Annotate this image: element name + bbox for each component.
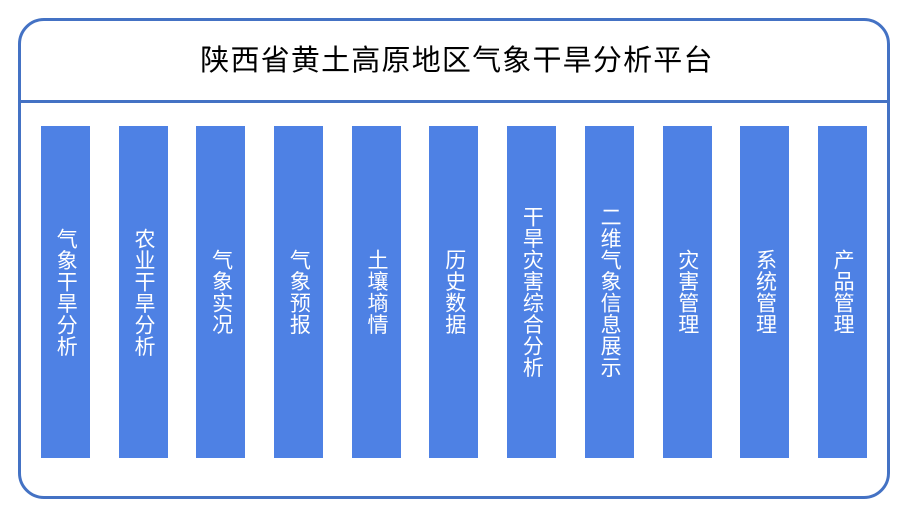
nav-item-soil-moisture[interactable]: 土壤墒情 xyxy=(352,126,401,458)
navigation-menu: 气象干旱分析 农业干旱分析 气象实况 气象预报 土壤墒情 历史数据 干旱灾害综合… xyxy=(21,103,887,496)
nav-item-2d-weather-information-display[interactable]: 二维气象信息展示 xyxy=(585,126,634,458)
nav-item-meteorological-drought-analysis[interactable]: 气象干旱分析 xyxy=(41,126,90,458)
nav-item-product-management[interactable]: 产品管理 xyxy=(818,126,867,458)
nav-item-agricultural-drought-analysis[interactable]: 农业干旱分析 xyxy=(119,126,168,458)
nav-item-label: 农业干旱分析 xyxy=(130,228,156,357)
nav-item-label: 产品管理 xyxy=(830,249,856,335)
page-title: 陕西省黄土高原地区气象干旱分析平台 xyxy=(194,46,713,75)
nav-item-label: 气象预报 xyxy=(286,249,312,335)
header-bar: 陕西省黄土高原地区气象干旱分析平台 xyxy=(21,21,887,103)
nav-item-label: 土壤墒情 xyxy=(363,249,389,335)
nav-item-label: 干旱灾害综合分析 xyxy=(519,206,545,378)
nav-item-label: 二维气象信息展示 xyxy=(597,206,623,378)
nav-item-label: 历史数据 xyxy=(441,249,467,335)
nav-item-system-management[interactable]: 系统管理 xyxy=(740,126,789,458)
nav-item-drought-disaster-comprehensive-analysis[interactable]: 干旱灾害综合分析 xyxy=(507,126,556,458)
nav-item-label: 气象实况 xyxy=(208,249,234,335)
nav-item-disaster-management[interactable]: 灾害管理 xyxy=(663,126,712,458)
nav-item-label: 系统管理 xyxy=(752,249,778,335)
nav-item-label: 气象干旱分析 xyxy=(53,228,79,357)
nav-item-historical-data[interactable]: 历史数据 xyxy=(429,126,478,458)
nav-item-weather-observation[interactable]: 气象实况 xyxy=(196,126,245,458)
nav-item-label: 灾害管理 xyxy=(674,249,700,335)
nav-item-weather-forecast[interactable]: 气象预报 xyxy=(274,126,323,458)
application-frame: 陕西省黄土高原地区气象干旱分析平台 气象干旱分析 农业干旱分析 气象实况 气象预… xyxy=(18,18,890,499)
